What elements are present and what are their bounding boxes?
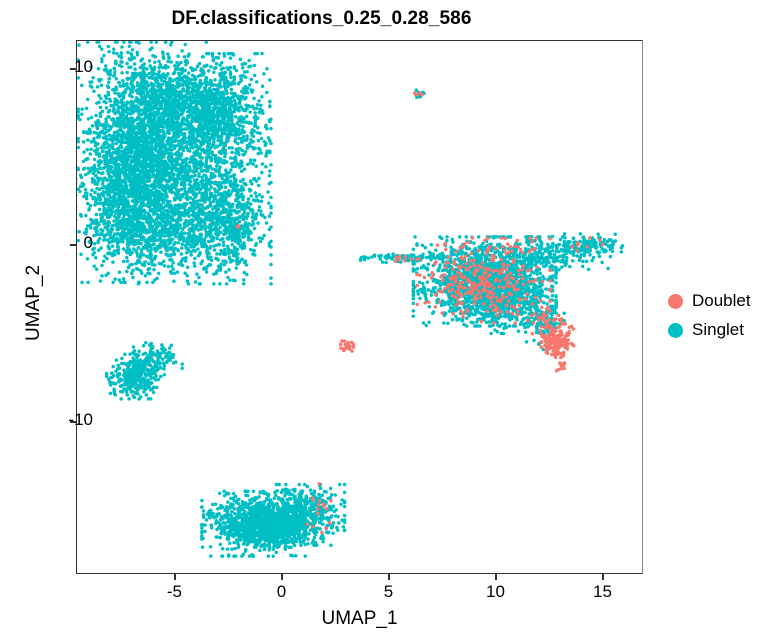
x-tick-mark bbox=[388, 574, 390, 580]
y-tick-mark bbox=[70, 244, 76, 246]
legend-item-doublet[interactable]: Doublet bbox=[668, 290, 751, 312]
legend-color-swatch bbox=[668, 294, 683, 309]
x-tick-label: 10 bbox=[486, 582, 505, 602]
y-tick-mark bbox=[70, 68, 76, 70]
x-tick-label: -5 bbox=[167, 582, 182, 602]
x-tick-mark bbox=[174, 574, 176, 580]
x-tick-mark bbox=[495, 574, 497, 580]
x-axis-title: UMAP_1 bbox=[76, 608, 643, 630]
x-tick-label: 15 bbox=[593, 582, 612, 602]
x-tick-label: 5 bbox=[384, 582, 393, 602]
x-tick-mark bbox=[602, 574, 604, 580]
plot-panel bbox=[76, 40, 643, 574]
y-tick-label: -10 bbox=[68, 410, 93, 430]
x-tick-label: 0 bbox=[277, 582, 286, 602]
x-tick-mark bbox=[281, 574, 283, 580]
y-tick-label: 10 bbox=[74, 57, 93, 77]
legend-item-singlet[interactable]: Singlet bbox=[668, 319, 751, 341]
y-tick-label: 0 bbox=[84, 233, 93, 253]
legend-color-swatch bbox=[668, 323, 683, 338]
legend-label: Singlet bbox=[692, 320, 744, 340]
legend-label: Doublet bbox=[692, 291, 751, 311]
page-title: DF.classifications_0.25_0.28_586 bbox=[0, 8, 643, 30]
y-tick-mark bbox=[70, 421, 76, 423]
umap-scatter-plot: DF.classifications_0.25_0.28_586 100-10 … bbox=[0, 0, 783, 641]
y-axis-title: UMAP_2 bbox=[23, 163, 45, 443]
scatter-points-canvas bbox=[77, 41, 642, 573]
legend: DoubletSinglet bbox=[668, 290, 751, 341]
